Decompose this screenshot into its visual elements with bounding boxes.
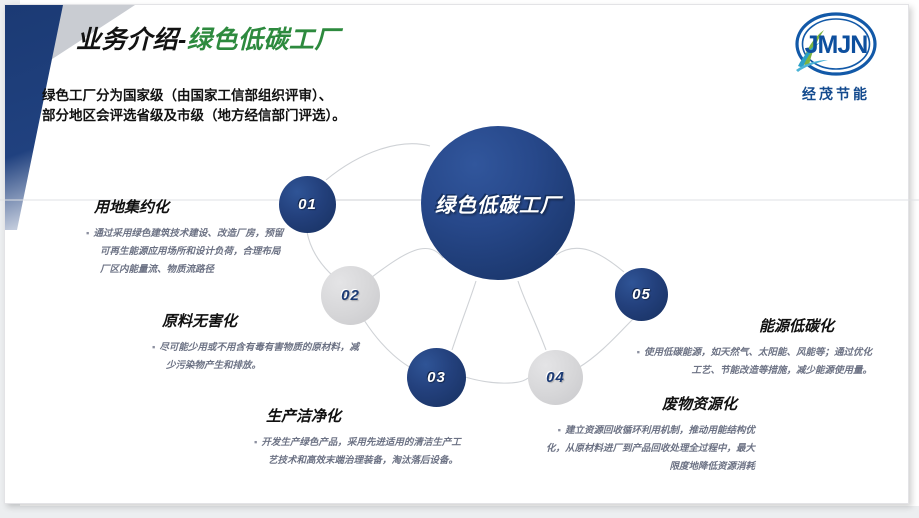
node-heading-01: 用地集约化	[94, 196, 286, 217]
node-number-05: 05	[632, 286, 651, 303]
slide-canvas: 业务介绍-绿色低碳工厂 绿色工厂分为国家级（由国家工信部组织评审）、 部分地区会…	[0, 0, 919, 518]
node-body-text-04: 建立资源回收循环利用机制，推动用能结构优化，从原材料进厂到产品回收处理全过程中，…	[546, 425, 755, 472]
bullet-icon-03: ▪	[254, 437, 257, 448]
bullet-icon-04: ▪	[558, 425, 561, 436]
node-body-02: ▪尽可能少用或不用含有毒有害物质的原材料，减少污染物产生和排放。	[152, 339, 362, 375]
node-text-block-04: 废物资源化 ▪建立资源回收循环利用机制，推动用能结构优化，从原材料进厂到产品回收…	[540, 393, 755, 476]
page-subtitle-line-1: 绿色工厂分为国家级（由国家工信部组织评审）、	[42, 86, 346, 106]
bullet-icon-05: ▪	[637, 347, 640, 358]
page-title: 业务介绍-绿色低碳工厂	[76, 20, 340, 56]
slide-bottom-margin	[0, 506, 919, 518]
node-circle-01[interactable]: 01	[279, 176, 336, 233]
node-text-block-03: 生产洁净化 ▪开发生产绿色产品，采用先进适用的清洁生产工艺技术和高效末端治理装备…	[254, 405, 469, 470]
node-number-03: 03	[427, 369, 446, 386]
center-node-label: 绿色低碳工厂	[435, 189, 561, 218]
node-number-02: 02	[341, 287, 360, 304]
logo-company-name: 经茂节能	[781, 84, 891, 104]
node-body-text-05: 使用低碳能源，如天然气、太阳能、风能等；通过优化工艺、节能改造等措施，减少能源使…	[644, 347, 872, 376]
node-heading-05: 能源低碳化	[632, 315, 834, 336]
node-heading-03: 生产洁净化	[266, 405, 469, 426]
svg-text:JMJN: JMJN	[805, 31, 868, 59]
node-body-05: ▪使用低碳能源，如天然气、太阳能、风能等；通过优化工艺、节能改造等措施，减少能源…	[632, 344, 872, 380]
company-logo: JMJN 经茂节能	[781, 10, 891, 110]
node-body-text-03: 开发生产绿色产品，采用先进适用的清洁生产工艺技术和高效末端治理装备，淘汰落后设备…	[261, 437, 461, 466]
page-title-prefix: 业务介绍-	[76, 26, 187, 54]
logo-icon: JMJN	[784, 10, 888, 82]
node-heading-02: 原料无害化	[162, 310, 362, 331]
page-title-highlight: 绿色低碳工厂	[187, 26, 340, 54]
node-circle-05[interactable]: 05	[615, 268, 668, 321]
node-text-block-05: 能源低碳化 ▪使用低碳能源，如天然气、太阳能、风能等；通过优化工艺、节能改造等措…	[632, 315, 872, 380]
bullet-icon-02: ▪	[152, 342, 155, 353]
bullet-icon-01: ▪	[86, 228, 89, 239]
node-circle-03[interactable]: 03	[407, 348, 466, 407]
node-body-03: ▪开发生产绿色产品，采用先进适用的清洁生产工艺技术和高效末端治理装备，淘汰落后设…	[254, 434, 469, 470]
page-subtitle-line-2: 部分地区会评选省级及市级（地方经信部门评选）。	[42, 106, 346, 126]
node-text-block-02: 原料无害化 ▪尽可能少用或不用含有毒有害物质的原材料，减少污染物产生和排放。	[152, 310, 362, 375]
page-subtitle: 绿色工厂分为国家级（由国家工信部组织评审）、 部分地区会评选省级及市级（地方经信…	[42, 86, 346, 126]
node-body-04: ▪建立资源回收循环利用机制，推动用能结构优化，从原材料进厂到产品回收处理全过程中…	[540, 422, 755, 476]
node-heading-04: 废物资源化	[540, 393, 737, 414]
node-body-text-02: 尽可能少用或不用含有毒有害物质的原材料，减少污染物产生和排放。	[159, 342, 359, 371]
node-number-04: 04	[546, 369, 565, 386]
node-text-block-01: 用地集约化 ▪通过采用绿色建筑技术建设、改造厂房，预留可再生能源应用场所和设计负…	[86, 196, 286, 279]
node-number-01: 01	[298, 196, 317, 213]
center-node[interactable]: 绿色低碳工厂	[421, 126, 575, 280]
node-body-text-01: 通过采用绿色建筑技术建设、改造厂房，预留可再生能源应用场所和设计负荷，合理布局厂…	[93, 228, 283, 275]
node-body-01: ▪通过采用绿色建筑技术建设、改造厂房，预留可再生能源应用场所和设计负荷，合理布局…	[86, 225, 286, 279]
